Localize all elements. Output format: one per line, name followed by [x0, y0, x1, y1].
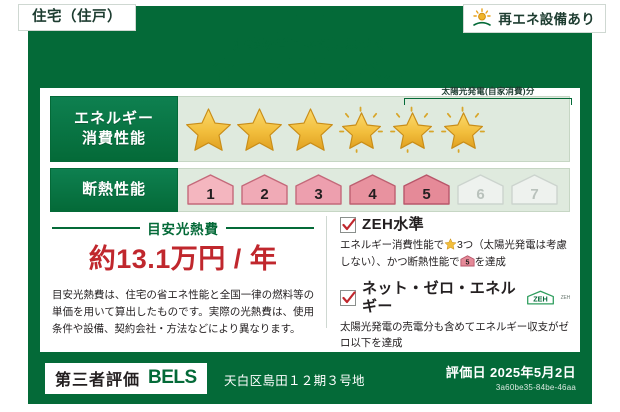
insulation-level-1-value: 1 — [206, 187, 214, 207]
bels-badge-jp-label: 第三者評価 — [55, 366, 140, 390]
heading-rule-left — [52, 227, 140, 229]
svg-text:5: 5 — [465, 259, 469, 266]
insulation-level-3-value: 3 — [314, 187, 322, 207]
energy-performance-stars-area: 太陽光発電(自家消費)分 — [178, 96, 570, 162]
label-title-block: 建築物省エネ法に基づく 省エネ性能ラベル — [28, 36, 592, 86]
insulation-level-6: 6 — [455, 173, 506, 207]
criterion-text-post: を達成 — [475, 256, 506, 268]
label-body: エネルギー 消費性能 太陽光発電(自家消費)分 — [40, 88, 580, 352]
energy-label-line1: エネルギー — [74, 109, 154, 129]
criterion-zeh-standard-body: エネルギー消費性能で3つ（太陽光発電は考慮しない）、かつ断熱性能で5を達成 — [340, 237, 570, 271]
energy-performance-row: エネルギー 消費性能 太陽光発電(自家消費)分 — [50, 96, 570, 162]
label-footer: 第三者評価 BELS 天白区島田１２期３号地 評価日 2025年5月2日 3a6… — [28, 354, 592, 404]
insulation-label-text: 断熱性能 — [82, 180, 146, 200]
checkbox-net-zero-energy[interactable] — [340, 290, 356, 306]
house-level-5-icon: 5 — [460, 255, 475, 267]
sun-renewable-icon — [471, 8, 493, 28]
criterion-net-zero-energy-body: 太陽光発電の売電分も含めてエネルギー収支がゼロ以下を達成 — [340, 319, 570, 353]
star-icon — [184, 106, 233, 153]
zeh-logo-icon: ZEH — [526, 289, 555, 306]
criteria-section: ZEH水準 エネルギー消費性能で3つ（太陽光発電は考慮しない）、かつ断熱性能で5… — [340, 216, 570, 361]
energy-performance-label: 住宅（住戸） 再エネ設備あり 建築物省エネ法に基づく 省エネ性能ラベル — [0, 0, 620, 412]
star-rating — [184, 97, 488, 161]
renewable-equipment-badge: 再エネ設備あり — [463, 4, 606, 33]
star-icon — [444, 238, 457, 250]
energy-cost-heading: 目安光熱費 — [52, 218, 314, 238]
page-title: 省エネ性能ラベル — [28, 55, 592, 86]
title-subtitle: 建築物省エネ法に基づく — [28, 36, 592, 54]
evaluation-date: 評価日 2025年5月2日 — [446, 362, 576, 381]
renewable-badge-label: 再エネ設備あり — [498, 8, 595, 28]
insulation-level-2: 2 — [239, 173, 290, 207]
energy-label-line2: 消費性能 — [82, 129, 146, 149]
energy-cost-amount: 約13.1万円 / 年 — [52, 244, 314, 275]
insulation-performance-row: 断熱性能 1 2 — [50, 168, 570, 212]
bels-badge-en-label: BELS — [148, 367, 197, 389]
star-icon — [235, 106, 284, 153]
bels-badge: 第三者評価 BELS — [45, 363, 207, 394]
insulation-level-7-value: 7 — [530, 187, 538, 207]
insulation-level-5-value: 5 — [422, 187, 430, 207]
svg-text:ZEH: ZEH — [533, 294, 548, 303]
star-icon — [286, 106, 335, 153]
insulation-level-7: 7 — [509, 173, 560, 207]
heading-rule-right — [226, 227, 314, 229]
criterion-net-zero-energy-title: ネット・ゼロ・エネルギー — [362, 280, 520, 316]
insulation-level-3: 3 — [293, 173, 344, 207]
insulation-level-scale: 1 2 3 — [185, 169, 560, 211]
criterion-net-zero-energy: ネット・ゼロ・エネルギー ZEH ZEH 太陽光発電の売電分も含めてエネルギー収… — [340, 280, 570, 353]
star-solar-icon — [337, 106, 386, 153]
solar-portion-note: 太陽光発電(自家消費)分 — [400, 85, 576, 97]
criterion-zeh-standard-title: ZEH水準 — [362, 216, 424, 234]
column-divider — [326, 216, 327, 328]
insulation-level-6-value: 6 — [476, 187, 484, 207]
zeh-logo-subtext: ZEH — [561, 295, 570, 301]
criterion-zeh-standard-header: ZEH水準 — [340, 216, 570, 234]
insulation-level-4-value: 4 — [368, 187, 376, 207]
insulation-level-5: 5 — [401, 173, 452, 207]
criterion-zeh-standard: ZEH水準 エネルギー消費性能で3つ（太陽光発電は考慮しない）、かつ断熱性能で5… — [340, 216, 570, 271]
criterion-text-pre: エネルギー消費性能で — [340, 239, 444, 251]
checkbox-zeh-standard[interactable] — [340, 217, 356, 233]
insulation-level-2-value: 2 — [260, 187, 268, 207]
property-address: 天白区島田１２期３号地 — [224, 370, 365, 389]
star-solar-icon — [388, 106, 437, 153]
insulation-levels-area: 1 2 3 — [178, 168, 570, 212]
energy-performance-label: エネルギー 消費性能 — [50, 96, 178, 162]
criterion-net-zero-energy-header: ネット・ゼロ・エネルギー ZEH ZEH — [340, 280, 570, 316]
insulation-level-1: 1 — [185, 173, 236, 207]
building-type-tag: 住宅（住戸） — [18, 4, 136, 31]
evaluation-id: 3a60be35-84be-46aa — [446, 383, 576, 392]
energy-cost-description: 目安光熱費は、住宅の省エネ性能と全国一律の燃料等の単価を用いて算出したものです。… — [52, 287, 314, 338]
insulation-level-4: 4 — [347, 173, 398, 207]
check-icon — [342, 218, 356, 232]
star-solar-icon — [439, 106, 488, 153]
check-icon — [342, 291, 356, 305]
energy-cost-heading-text: 目安光熱費 — [147, 218, 219, 238]
energy-cost-section: 目安光熱費 約13.1万円 / 年 目安光熱費は、住宅の省エネ性能と全国一律の燃… — [52, 218, 314, 338]
evaluation-info: 評価日 2025年5月2日 3a60be35-84be-46aa — [446, 362, 576, 392]
insulation-performance-label: 断熱性能 — [50, 168, 178, 212]
